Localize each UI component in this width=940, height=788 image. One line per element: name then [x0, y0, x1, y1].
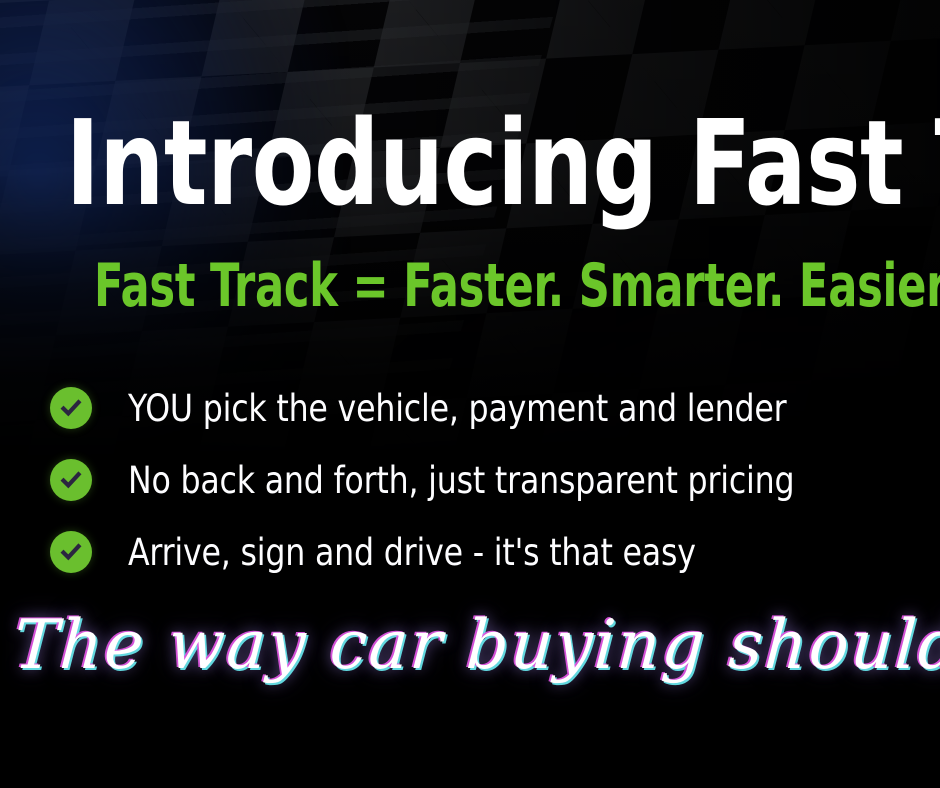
check-circle-icon [50, 387, 92, 429]
list-item: No back and forth, just transparent pric… [50, 444, 910, 516]
check-circle-icon [50, 459, 92, 501]
page-title: Introducing Fast Track [66, 104, 874, 222]
poster-content: Introducing Fast Track Fast Track = Fast… [0, 0, 940, 788]
list-item-label: YOU pick the vehicle, payment and lender [128, 390, 786, 427]
list-item-label: No back and forth, just transparent pric… [128, 462, 794, 499]
subtitle: Fast Track = Faster. Smarter. Easier. [94, 256, 846, 316]
list-item: YOU pick the vehicle, payment and lender [50, 372, 910, 444]
list-item-label: Arrive, sign and drive - it's that easy [128, 534, 696, 571]
tagline: The way car buying should be. [12, 612, 928, 680]
benefit-list: YOU pick the vehicle, payment and lender… [50, 372, 910, 588]
promo-poster: Introducing Fast Track Fast Track = Fast… [0, 0, 940, 788]
list-item: Arrive, sign and drive - it's that easy [50, 516, 910, 588]
check-circle-icon [50, 531, 92, 573]
